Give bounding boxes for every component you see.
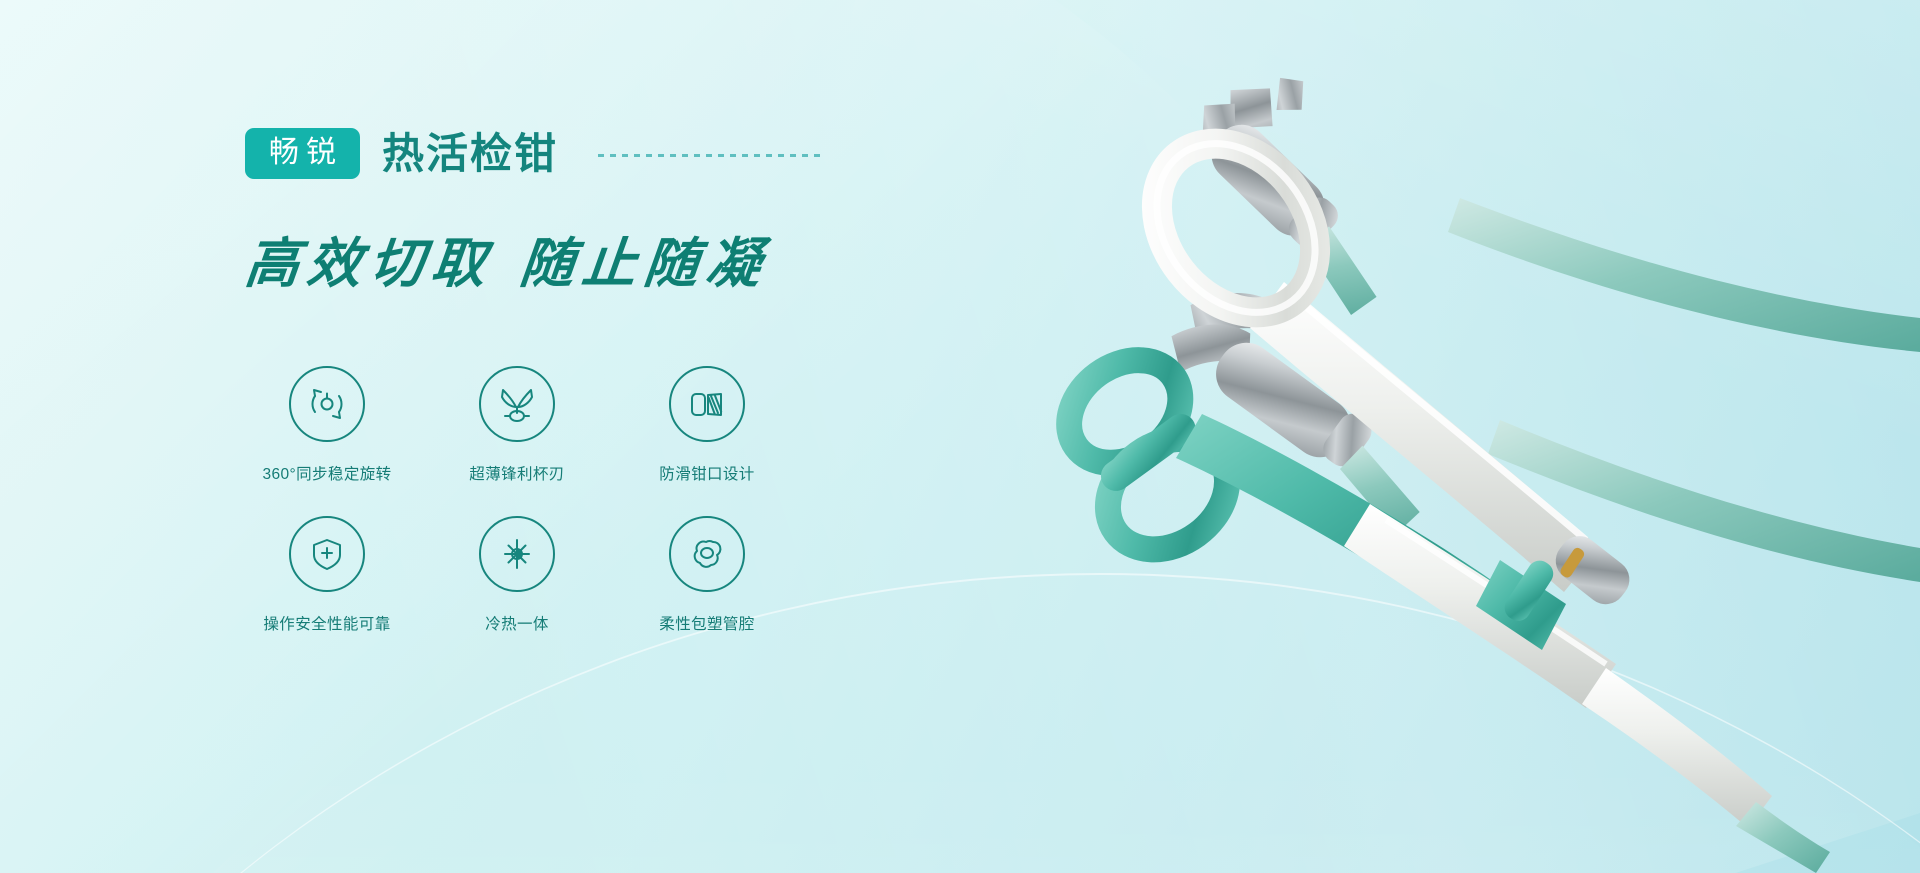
banner-content: 畅锐 热活检钳 高效切取 随止随凝 360°同步稳定旋转 [0,0,900,873]
feature-label: 柔性包塑管腔 [659,612,754,634]
feature-item: 超薄锋利杯刃 [422,366,612,516]
feature-label: 操作安全性能可靠 [263,612,390,634]
product-photo [900,0,1920,873]
metal-jaw-upper [1150,46,1450,322]
flexible-lumen-icon [669,516,745,592]
feature-item: 柔性包塑管腔 [612,516,802,666]
brand-badge: 畅锐 [245,128,360,179]
flexible-sheath-lower [1488,420,1920,582]
feature-item: 防滑钳口设计 [612,366,802,516]
feature-label: 360°同步稳定旋转 [262,462,391,484]
title-row: 畅锐 热活检钳 [245,128,820,179]
promo-banner: 畅锐 热活检钳 高效切取 随止随凝 360°同步稳定旋转 [0,0,1920,873]
background-swoosh-3 [840,0,1920,840]
flexible-sheath-upper [1448,198,1920,352]
white-handle-forceps [1124,112,1637,612]
feature-item: 冷热一体 [422,516,612,666]
feature-label: 超薄锋利杯刃 [469,462,564,484]
dotted-divider [598,154,820,157]
feature-item: 360°同步稳定旋转 [232,366,422,516]
feature-label: 防滑钳口设计 [659,462,754,484]
page-title: 热活检钳 [382,133,558,175]
metal-jaw-lower [1134,271,1472,540]
rotation-360-icon [289,366,365,442]
teal-handle-forceps [1035,339,1830,873]
hot-cold-icon [479,516,555,592]
slogan: 高效切取 随止随凝 [242,219,773,298]
feature-grid: 360°同步稳定旋转 超薄锋利杯刃 [232,366,802,666]
forceps-illustration [900,0,1920,873]
anti-slip-jaw-icon [669,366,745,442]
sharp-cup-blade-icon [479,366,555,442]
shield-safety-icon [289,516,365,592]
feature-label: 冷热一体 [485,612,549,634]
feature-item: 操作安全性能可靠 [232,516,422,666]
